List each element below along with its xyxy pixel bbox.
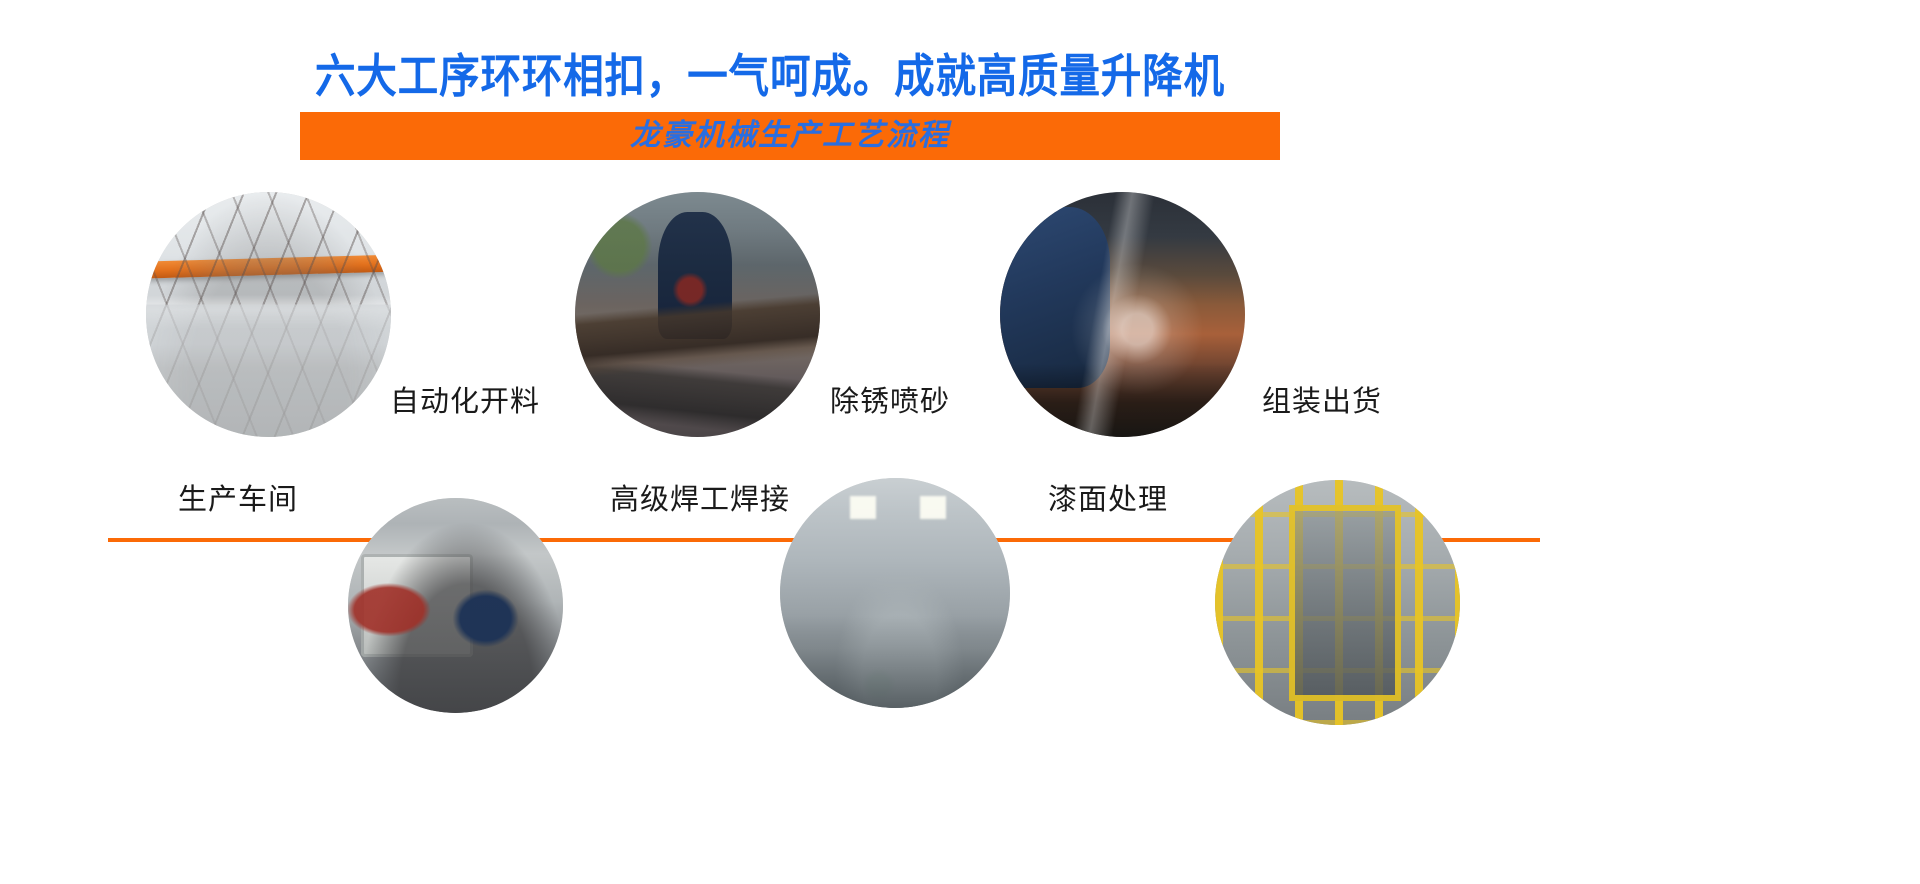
process-photo-cage <box>1215 480 1460 725</box>
process-photo-paint <box>780 478 1010 708</box>
process-photo-workshop <box>146 192 391 437</box>
finished-lift-cage-image <box>1215 480 1460 725</box>
process-label-cutting: 自动化开料 <box>390 378 540 420</box>
process-label-welding: 高级焊工焊接 <box>610 476 790 518</box>
factory-workshop-image <box>146 192 391 437</box>
paint-booth-image <box>780 478 1010 708</box>
sandblasting-image <box>1000 192 1245 437</box>
process-photo-blasting <box>1000 192 1245 437</box>
banner-title: 龙豪机械生产工艺流程 <box>300 112 1280 160</box>
process-label-blasting: 除锈喷砂 <box>830 378 950 420</box>
process-label-assembly: 组装出货 <box>1262 378 1382 420</box>
automated-cutting-image <box>575 192 820 437</box>
process-photo-cutting <box>575 192 820 437</box>
process-infographic: 六大工序环环相扣，一气呵成。成就高质量升降机 龙豪机械生产工艺流程 自动化开料 … <box>0 0 1920 884</box>
process-photo-cnc <box>348 498 563 713</box>
process-label-workshop: 生产车间 <box>178 476 298 518</box>
process-label-painting: 漆面处理 <box>1048 476 1168 518</box>
cnc-lathe-image <box>348 498 563 713</box>
page-title: 六大工序环环相扣，一气呵成。成就高质量升降机 <box>92 40 1447 106</box>
